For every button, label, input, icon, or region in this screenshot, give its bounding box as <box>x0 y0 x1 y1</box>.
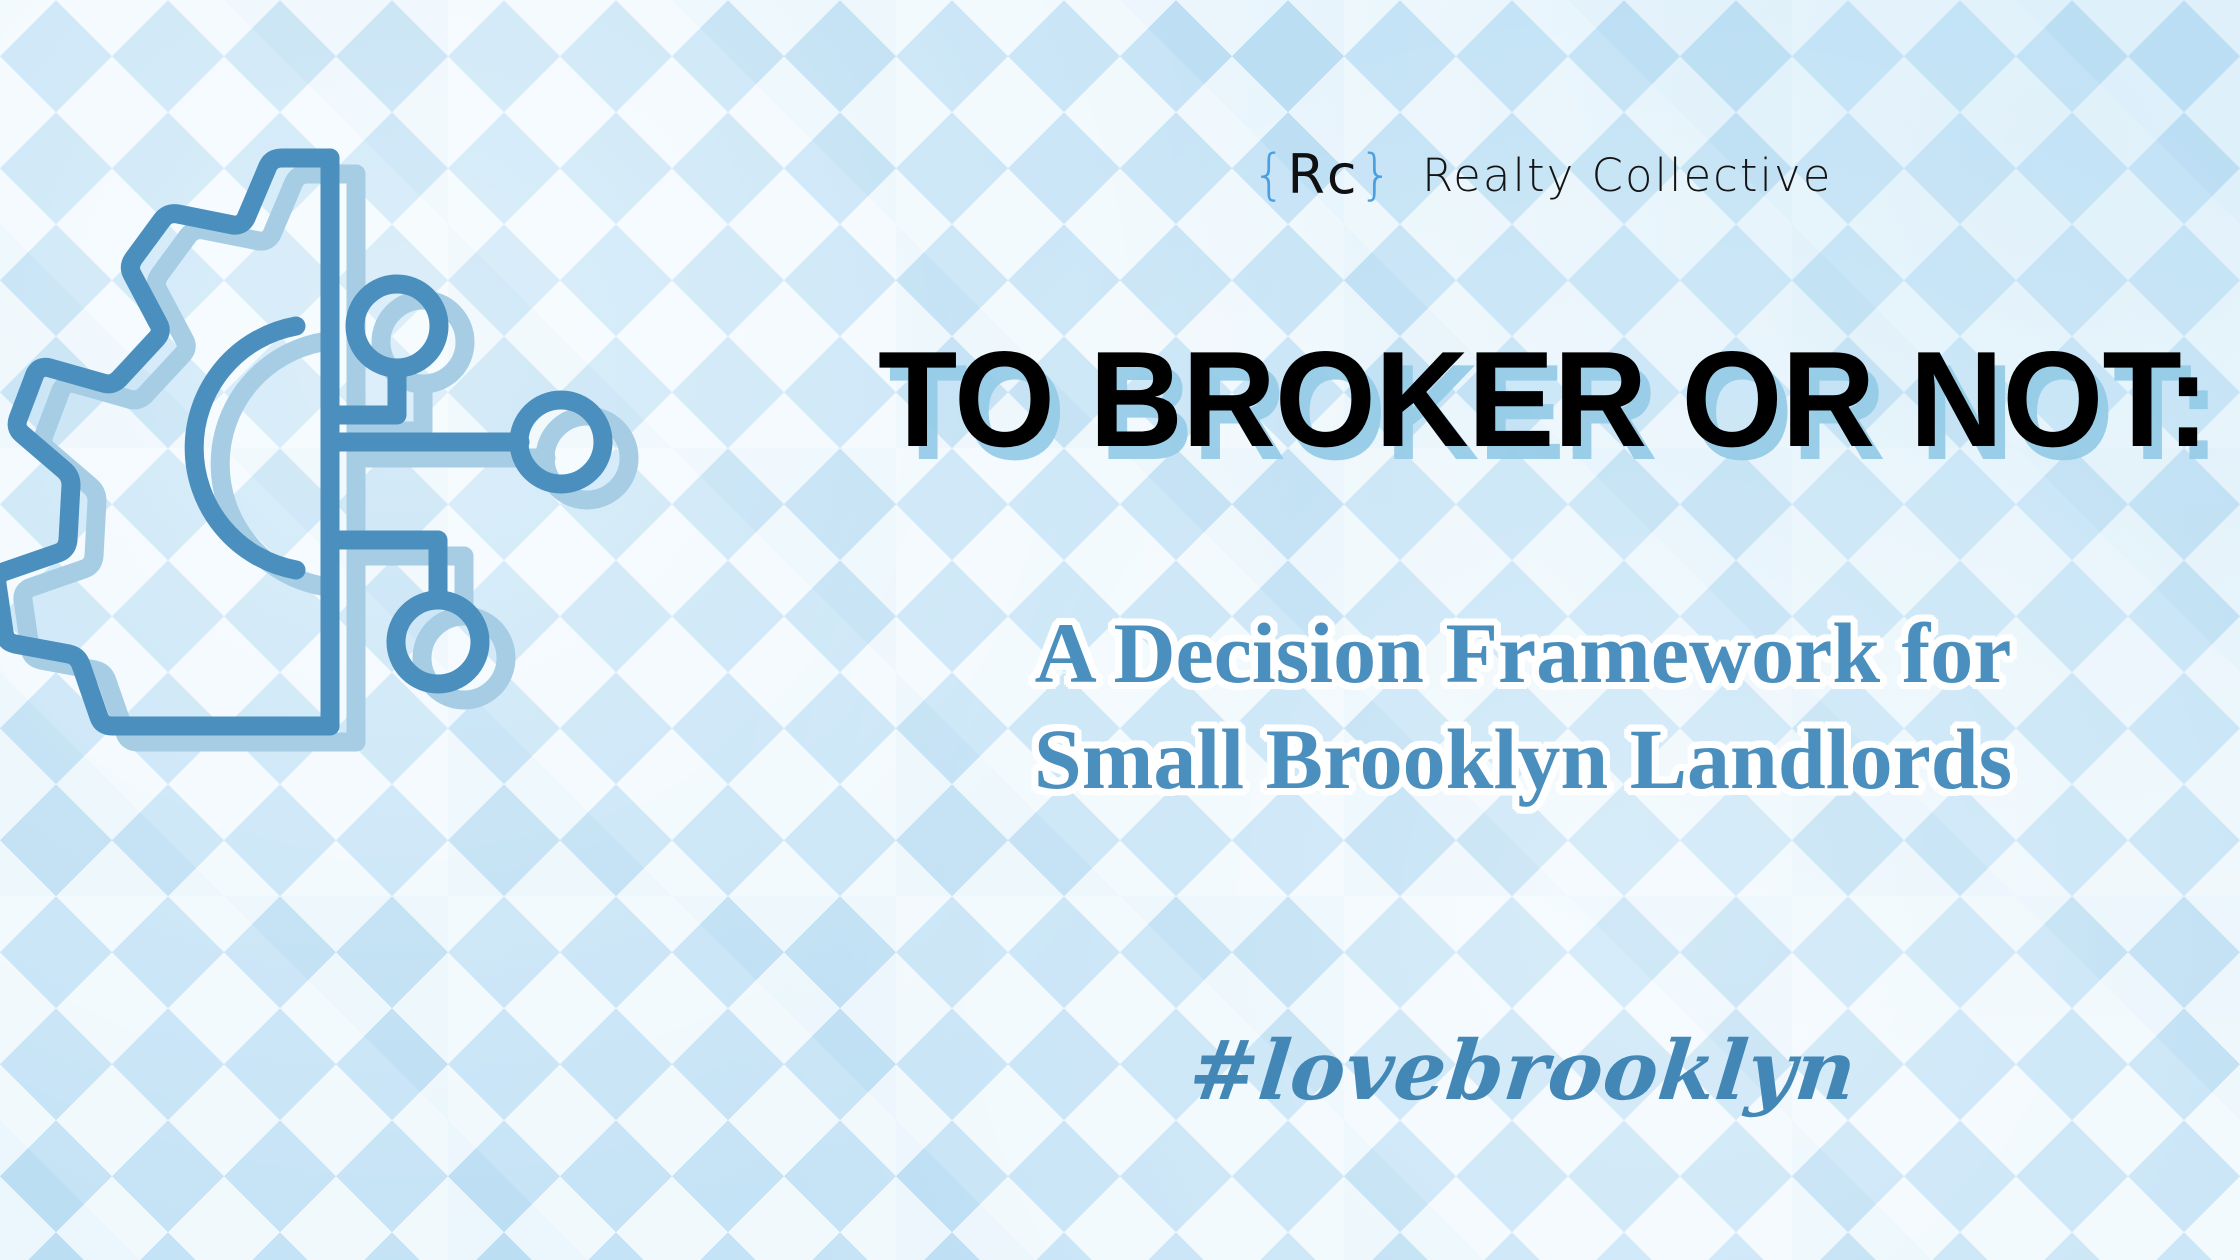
brand-logo: {Rc} Realty Collective <box>1252 140 1832 210</box>
gear-decision-tree-svg <box>0 130 660 750</box>
logo-brace-open-icon: { <box>1252 143 1287 206</box>
node-circle-bottom <box>396 600 480 684</box>
node-circle-middle <box>519 400 603 484</box>
subtitle-line-1: A Decision Framework for <box>878 600 2168 706</box>
logo-monogram-text: Rc <box>1287 143 1358 206</box>
logo-brace-close-icon: } <box>1359 143 1394 206</box>
subtitle-line-2: Small Brooklyn Landlords <box>878 706 2168 812</box>
hashtag-tagline: #lovebrooklyn <box>873 1022 2173 1120</box>
logo-monogram: {Rc} <box>1252 148 1394 202</box>
illustration-main-layer <box>0 158 603 726</box>
branch-line-bottom <box>330 540 438 600</box>
gear-decision-tree-graphic <box>0 130 660 750</box>
node-circle-top <box>355 284 439 368</box>
page-subtitle: A Decision Framework for Small Brooklyn … <box>878 600 2168 812</box>
logo-wordmark: Realty Collective <box>1422 149 1832 202</box>
social-banner-canvas: {Rc} Realty Collective TO BROKER OR NOT:… <box>0 0 2240 1260</box>
page-title: TO BROKER OR NOT: <box>878 338 2110 468</box>
